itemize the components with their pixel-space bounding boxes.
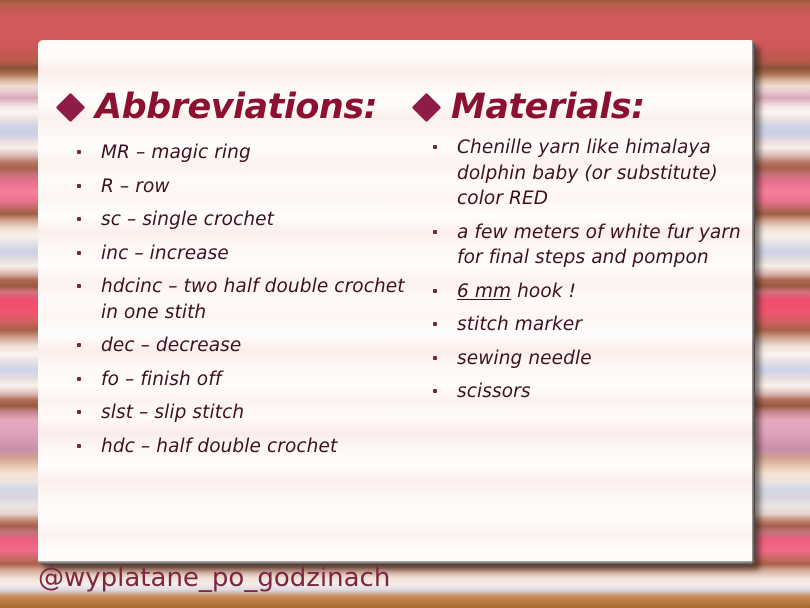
list-item: hdcinc – two half double crochet in one … bbox=[60, 274, 420, 325]
underlined-text: 6 mm bbox=[457, 281, 511, 302]
diamond-bullet-icon bbox=[56, 93, 86, 123]
materials-heading-text: Materials: bbox=[451, 90, 645, 125]
list-item: slst – slip stitch bbox=[60, 400, 420, 426]
list-item: inc – increase bbox=[60, 241, 420, 267]
abbreviations-list: MR – magic ring R – row sc – single croc… bbox=[60, 140, 420, 467]
abbreviations-heading: Abbreviations: bbox=[60, 90, 377, 125]
list-item: scissors bbox=[416, 379, 746, 405]
content-card: Abbreviations: MR – magic ring R – row s… bbox=[38, 40, 755, 565]
list-item: hdc – half double crochet bbox=[60, 434, 420, 460]
list-item: sc – single crochet bbox=[60, 207, 420, 233]
list-item: R – row bbox=[60, 174, 420, 200]
list-item: Chenille yarn like himalaya dolphin baby… bbox=[416, 135, 746, 212]
list-item: dec – decrease bbox=[60, 333, 420, 359]
card-inner: Abbreviations: MR – magic ring R – row s… bbox=[38, 40, 755, 565]
materials-heading: Materials: bbox=[416, 90, 645, 125]
abbreviations-heading-text: Abbreviations: bbox=[95, 90, 377, 125]
list-item: fo – finish off bbox=[60, 367, 420, 393]
list-item: sewing needle bbox=[416, 346, 746, 372]
list-item: a few meters of white fur yarn for final… bbox=[416, 220, 746, 271]
list-item: MR – magic ring bbox=[60, 140, 420, 166]
list-item: stitch marker bbox=[416, 312, 746, 338]
slide-root: Abbreviations: MR – magic ring R – row s… bbox=[0, 0, 810, 608]
materials-list: Chenille yarn like himalaya dolphin baby… bbox=[416, 135, 746, 413]
card-right-edge bbox=[752, 40, 755, 565]
list-item: 6 mm hook ! bbox=[416, 279, 746, 305]
watermark-handle: @wyplatane_po_godzinach bbox=[38, 563, 390, 593]
diamond-bullet-icon bbox=[412, 93, 442, 123]
